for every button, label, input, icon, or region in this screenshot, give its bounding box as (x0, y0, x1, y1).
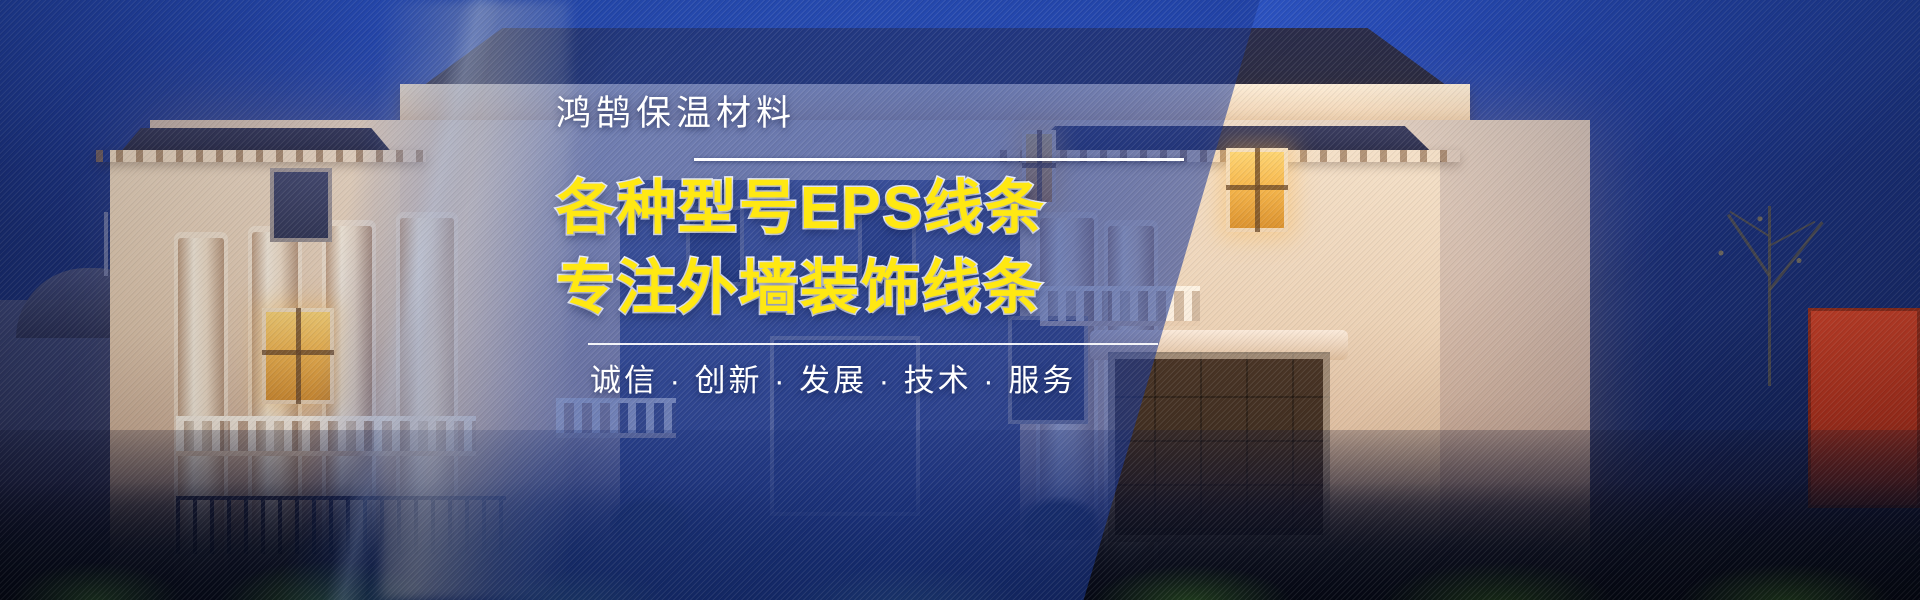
tagline: 诚信 · 创新 · 发展 · 技术 · 服务 (590, 365, 1216, 396)
divider-top (694, 158, 1184, 161)
bare-tree (1694, 196, 1844, 386)
company-name: 鸿鹄保温材料 (556, 96, 1216, 131)
light-shaft (380, 0, 570, 600)
headline-line-1: 各种型号EPS线条 (556, 175, 1216, 241)
promo-banner: 鸿鹄保温材料 各种型号EPS线条 专注外墙装饰线条 诚信 · 创新 · 发展 ·… (0, 0, 1920, 600)
divider-bottom (588, 343, 1158, 345)
headline-line-2: 专注外墙装饰线条 (556, 255, 1216, 321)
banner-copy-block: 鸿鹄保温材料 各种型号EPS线条 专注外墙装饰线条 诚信 · 创新 · 发展 ·… (556, 96, 1216, 396)
